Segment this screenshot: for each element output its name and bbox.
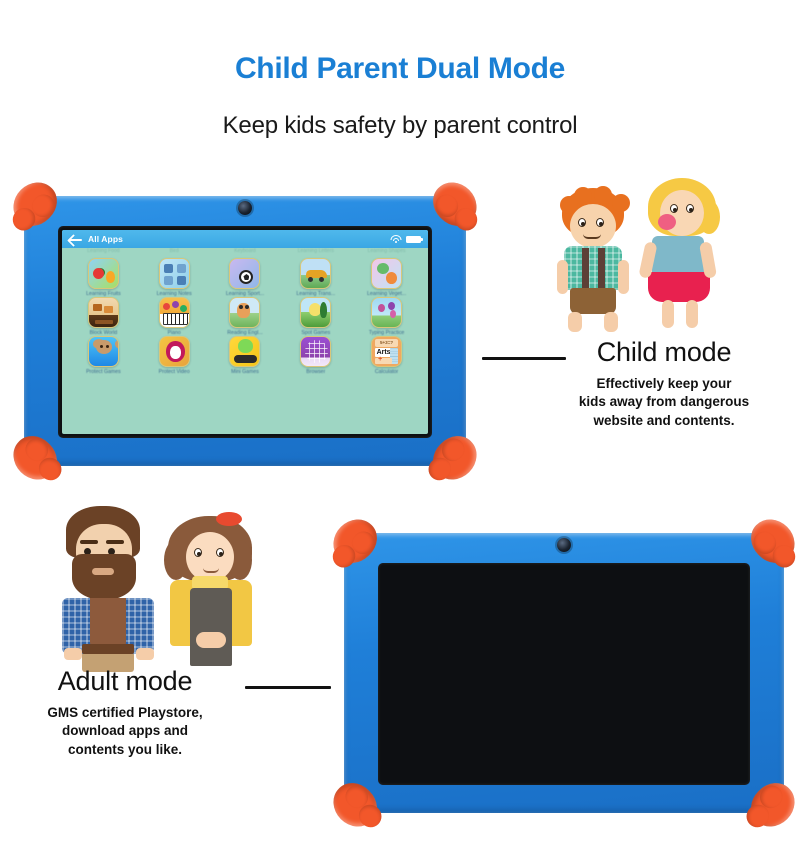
learning-notes-icon[interactable]	[159, 258, 190, 289]
protect-video-icon[interactable]	[159, 336, 190, 367]
app-label: Protect Video	[159, 369, 190, 375]
cut-label: Keyboard	[210, 248, 281, 256]
spot-games-icon[interactable]	[300, 297, 331, 328]
cut-label: Learning Shapes	[351, 248, 422, 256]
adult-tablet: G Pronuncia "Ok Google"	[344, 533, 784, 813]
app-item[interactable]: Learning Trans...	[280, 258, 351, 297]
boy-arm-left	[557, 260, 568, 294]
man-eyebrows	[80, 540, 98, 544]
man-hand-left	[64, 648, 82, 660]
app-row: Block World Piano Reading Engl... Spot G…	[68, 297, 422, 336]
back-arrow-icon[interactable]	[69, 234, 82, 245]
child-girl	[640, 176, 732, 332]
woman-eye-left	[194, 548, 202, 557]
child-mode-desc-line: Effectively keep your	[530, 375, 798, 393]
girl-leg-left	[662, 300, 674, 328]
app-label: Protect Games	[86, 369, 121, 375]
woman-hair-curls	[164, 540, 188, 580]
app-row: Protect Games Protect Video Mini Games B…	[68, 336, 422, 375]
adult-woman	[162, 514, 264, 672]
app-label: Calculator	[375, 369, 398, 375]
app-label: Browser	[306, 369, 325, 375]
woman-apron	[190, 588, 232, 666]
block-world-icon[interactable]	[88, 297, 119, 328]
screen-bezel-adult: G Pronuncia "Ok Google"	[378, 563, 750, 785]
learning-sport-icon[interactable]	[229, 258, 260, 289]
app-item[interactable]: Typing Practice	[351, 297, 422, 336]
learning-fruits-icon[interactable]	[88, 258, 119, 289]
boy-shorts	[570, 288, 616, 314]
status-icons	[390, 235, 421, 244]
app-item[interactable]: Learning Fruits	[68, 258, 139, 297]
man-hand-right	[136, 648, 154, 660]
woman-hair-bow	[216, 512, 242, 526]
girl-top	[652, 236, 704, 276]
boy-suspender-right	[598, 248, 605, 288]
boy-eye-right	[596, 218, 604, 227]
bubblegum-bubble	[658, 214, 676, 230]
boy-arm-right	[618, 260, 629, 294]
girl-skirt	[648, 272, 710, 302]
boy-suspender-left	[582, 248, 589, 288]
app-item[interactable]: 5+3=? Arts Calculator	[351, 336, 422, 375]
woman-face	[186, 532, 234, 582]
app-item[interactable]: Learning Notes	[139, 258, 210, 297]
kids-tablet: All Apps Learning Food Bird Keyboard Lea…	[24, 196, 466, 466]
cut-label: Learning Letters	[280, 248, 351, 256]
app-item[interactable]: Browser	[280, 336, 351, 375]
woman-eye-right	[216, 548, 224, 557]
kids-screen[interactable]: All Apps Learning Food Bird Keyboard Lea…	[62, 230, 428, 434]
adult-mode-callout: Adult mode GMS certified Playstore, down…	[10, 666, 240, 759]
child-mode-desc-line: kids away from dangerous	[530, 393, 798, 411]
app-item[interactable]: Protect Video	[139, 336, 210, 375]
browser-icon[interactable]	[300, 336, 331, 367]
child-mode-callout: Child mode Effectively keep your kids aw…	[530, 337, 798, 430]
app-item[interactable]: Piano	[139, 297, 210, 336]
wifi-icon	[390, 235, 401, 244]
children-illustration	[548, 172, 738, 332]
learning-transport-icon[interactable]	[300, 258, 331, 289]
girl-eye-right	[686, 204, 694, 213]
cut-label: Learning Food	[68, 248, 139, 256]
front-camera-kids	[238, 201, 252, 215]
product-infographic: Child Parent Dual Mode Keep kids safety …	[0, 0, 800, 858]
mini-games-icon[interactable]	[229, 336, 260, 367]
woman-hands	[196, 632, 226, 648]
app-item[interactable]: Learning Sport...	[210, 258, 281, 297]
app-item[interactable]: Block World	[68, 297, 139, 336]
adult-mode-desc-line: download apps and	[10, 722, 240, 740]
app-row: Learning Fruits Learning Notes Learning …	[68, 258, 422, 297]
boy-leg-right	[604, 312, 618, 332]
child-mode-desc-line: website and contents.	[530, 412, 798, 430]
page-title: Child Parent Dual Mode	[0, 52, 800, 86]
boy-mouth	[583, 234, 601, 239]
calculator-plus	[375, 358, 392, 364]
reading-english-icon[interactable]	[229, 297, 260, 328]
typing-practice-icon[interactable]	[371, 297, 402, 328]
kids-app-bar: All Apps	[62, 230, 428, 248]
scrolled-row-labels: Learning Food Bird Keyboard Learning Let…	[62, 248, 428, 256]
boy-leg-left	[568, 312, 582, 332]
cut-label: Bird	[139, 248, 210, 256]
page-subtitle: Keep kids safety by parent control	[0, 112, 800, 140]
boy-eye-left	[578, 218, 586, 227]
calculator-top-text: 5+3=?	[375, 339, 398, 347]
app-item[interactable]: Spot Games	[280, 297, 351, 336]
boy-shirt	[564, 246, 622, 290]
woman-mouth	[203, 568, 219, 573]
app-bar-title: All Apps	[88, 234, 123, 244]
man-undershirt	[90, 598, 126, 650]
adult-mode-desc-line: GMS certified Playstore,	[10, 704, 240, 722]
adult-mode-desc-line: contents you like.	[10, 741, 240, 759]
girl-leg-right	[686, 300, 698, 328]
calculator-icon[interactable]: 5+3=? Arts	[371, 336, 402, 367]
man-mouth	[92, 568, 114, 575]
app-label: Mini Games	[231, 369, 259, 375]
child-mode-heading: Child mode	[530, 337, 798, 368]
app-item[interactable]: Reading Engl...	[210, 297, 281, 336]
adult-mode-connector-line	[245, 686, 331, 689]
boy-face	[570, 204, 616, 248]
app-item[interactable]: Mini Games	[210, 336, 281, 375]
adult-mode-heading: Adult mode	[10, 666, 240, 697]
girl-eye-left	[670, 204, 678, 213]
man-beard	[72, 554, 136, 600]
app-item[interactable]: Protect Games	[68, 336, 139, 375]
screen-bezel-kids: All Apps Learning Food Bird Keyboard Lea…	[58, 226, 432, 438]
piano-icon[interactable]	[159, 297, 190, 328]
adult-man	[58, 506, 162, 672]
adults-illustration	[58, 502, 268, 672]
app-grid: Learning Fruits Learning Notes Learning …	[62, 256, 428, 375]
man-belt	[82, 644, 134, 654]
learning-vegetables-icon[interactable]	[371, 258, 402, 289]
protect-games-icon[interactable]	[88, 336, 119, 367]
app-item[interactable]: Learning Veget...	[351, 258, 422, 297]
child-boy	[554, 190, 640, 332]
battery-icon	[406, 236, 421, 243]
front-camera-adult	[557, 538, 571, 552]
